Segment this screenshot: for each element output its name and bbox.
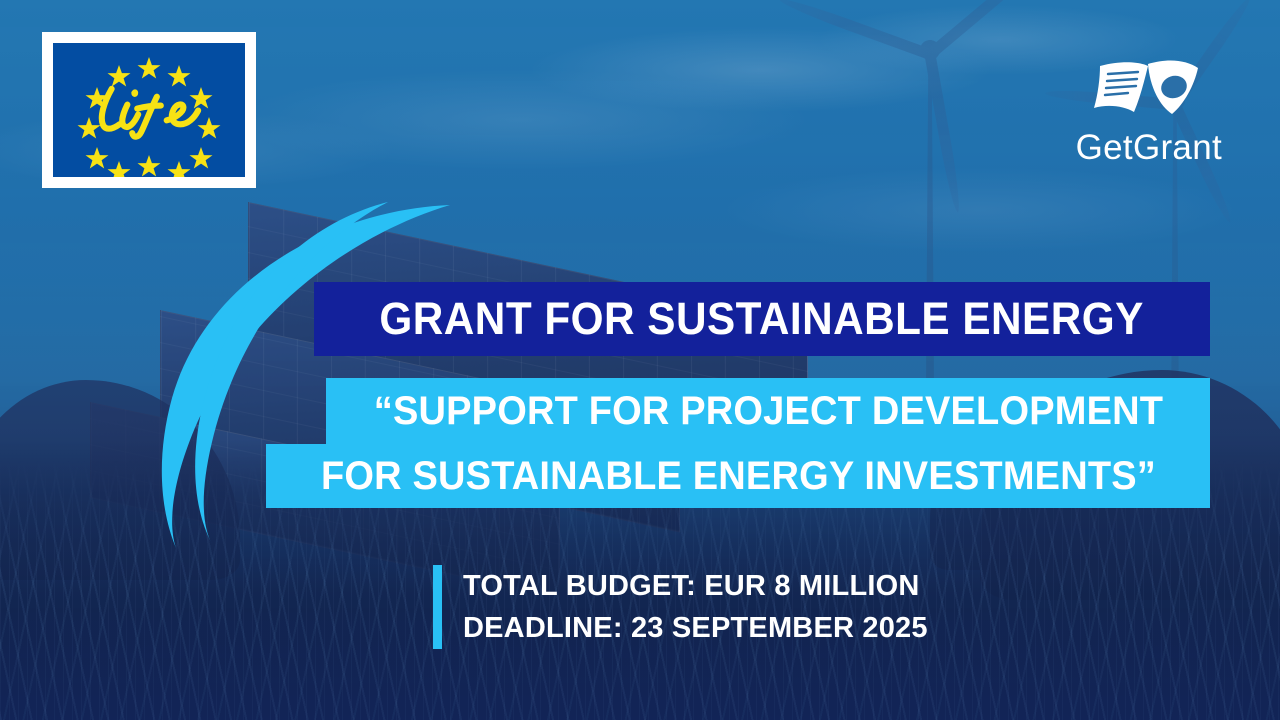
life-programme-logo [42, 32, 256, 188]
poster-title: GRANT FOR SUSTAINABLE ENERGY [380, 293, 1144, 345]
getgrant-logo: GetGrant [1076, 52, 1222, 165]
life-script-text [90, 79, 208, 142]
title-banner: GRANT FOR SUSTAINABLE ENERGY [314, 282, 1210, 356]
promotional-poster: GetGrant GRANT FOR SUSTAINABLE ENERGY “S… [0, 0, 1280, 720]
deadline-text: DEADLINE: 23 SEPTEMBER 2025 [463, 607, 928, 649]
details-block: TOTAL BUDGET: EUR 8 MILLION DEADLINE: 23… [433, 565, 928, 649]
eu-flag [53, 43, 245, 177]
getgrant-wordmark: GetGrant [1076, 130, 1222, 165]
details-lines: TOTAL BUDGET: EUR 8 MILLION DEADLINE: 23… [463, 565, 928, 649]
subtitle-text-line2: FOR SUSTAINABLE ENERGY INVESTMENTS” [321, 454, 1156, 499]
total-budget-text: TOTAL BUDGET: EUR 8 MILLION [463, 565, 928, 607]
subtitle-banner-line2: FOR SUSTAINABLE ENERGY INVESTMENTS” [266, 444, 1210, 508]
subtitle-banner-line1: “SUPPORT FOR PROJECT DEVELOPMENT [326, 378, 1210, 444]
documents-icon [1088, 52, 1210, 124]
accent-bar [433, 565, 442, 649]
subtitle-text-line1: “SUPPORT FOR PROJECT DEVELOPMENT [373, 389, 1162, 434]
life-wordmark [53, 43, 245, 177]
